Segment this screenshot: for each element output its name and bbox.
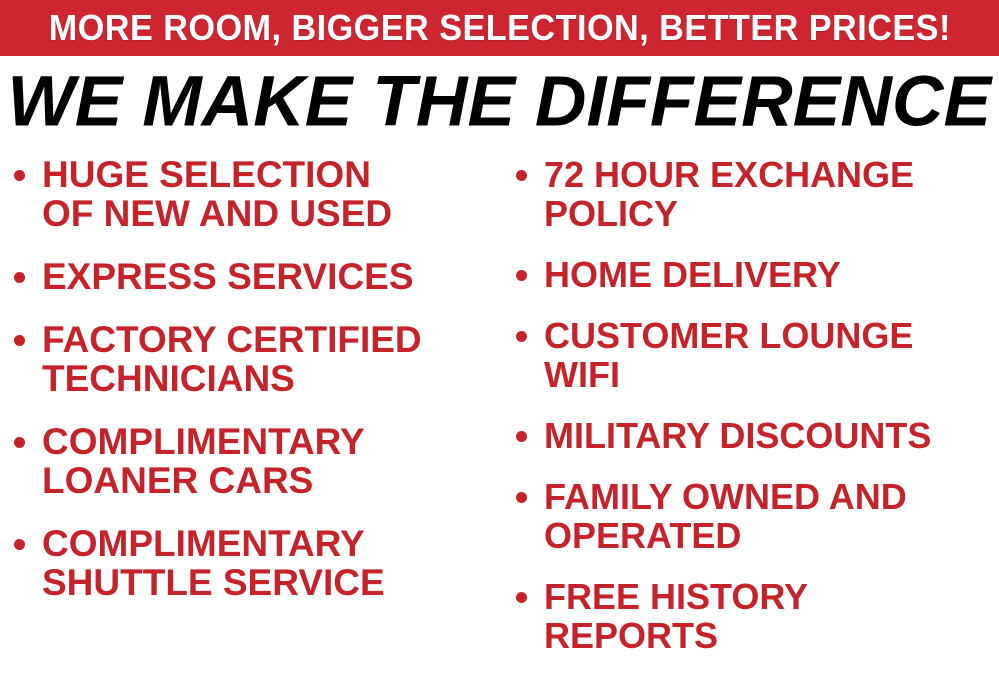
bullet-dot-icon: [516, 270, 527, 281]
benefit-label: CUSTOMER LOUNGE WIFI: [544, 316, 913, 394]
banner-headline-text: MORE ROOM, BIGGER SELECTION, BETTER PRIC…: [48, 10, 950, 46]
list-item: 72 HOUR EXCHANGE POLICY: [516, 155, 999, 233]
list-item: HOME DELIVERY: [516, 255, 999, 294]
benefit-label: FAMILY OWNED AND OPERATED: [544, 477, 907, 555]
benefit-list-right: 72 HOUR EXCHANGE POLICY HOME DELIVERY CU…: [516, 155, 999, 655]
list-item: EXPRESS SERVICES: [14, 257, 508, 296]
bullet-dot-icon: [516, 431, 527, 442]
top-banner: MORE ROOM, BIGGER SELECTION, BETTER PRIC…: [0, 0, 999, 56]
list-item: COMPLIMENTARY LOANER CARS: [14, 422, 508, 500]
benefits-columns: HUGE SELECTION OF NEW AND USED EXPRESS S…: [0, 155, 999, 692]
list-item: CUSTOMER LOUNGE WIFI: [516, 316, 999, 394]
benefits-column-right: 72 HOUR EXCHANGE POLICY HOME DELIVERY CU…: [508, 155, 999, 677]
benefit-label: FREE HISTORY REPORTS: [544, 577, 808, 655]
list-item: MILITARY DISCOUNTS: [516, 416, 999, 455]
bullet-dot-icon: [516, 331, 527, 342]
benefit-label: COMPLIMENTARY LOANER CARS: [42, 422, 365, 500]
bullet-dot-icon: [516, 492, 527, 503]
list-item: FAMILY OWNED AND OPERATED: [516, 477, 999, 555]
benefit-list-left: HUGE SELECTION OF NEW AND USED EXPRESS S…: [14, 155, 508, 602]
benefit-label: HUGE SELECTION OF NEW AND USED: [42, 155, 392, 233]
page-title: WE MAKE THE DIFFERENCE: [8, 65, 992, 136]
list-item: FREE HISTORY REPORTS: [516, 577, 999, 655]
promotional-poster: MORE ROOM, BIGGER SELECTION, BETTER PRIC…: [0, 0, 999, 692]
bullet-dot-icon: [14, 272, 25, 283]
bullet-dot-icon: [14, 539, 25, 550]
list-item: COMPLIMENTARY SHUTTLE SERVICE: [14, 524, 508, 602]
benefit-label: FACTORY CERTIFIED TECHNICIANS: [42, 320, 422, 398]
list-item: HUGE SELECTION OF NEW AND USED: [14, 155, 508, 233]
bullet-dot-icon: [14, 437, 25, 448]
list-item: FACTORY CERTIFIED TECHNICIANS: [14, 320, 508, 398]
benefits-column-left: HUGE SELECTION OF NEW AND USED EXPRESS S…: [0, 155, 508, 626]
benefit-label: MILITARY DISCOUNTS: [544, 416, 931, 455]
benefit-label: 72 HOUR EXCHANGE POLICY: [544, 155, 914, 233]
benefit-label: HOME DELIVERY: [544, 255, 841, 294]
bullet-dot-icon: [516, 170, 527, 181]
benefit-label: COMPLIMENTARY SHUTTLE SERVICE: [42, 524, 385, 602]
bullet-dot-icon: [14, 170, 25, 181]
benefit-label: EXPRESS SERVICES: [42, 257, 414, 296]
bullet-dot-icon: [516, 592, 527, 603]
headline-container: WE MAKE THE DIFFERENCE: [0, 62, 999, 140]
bullet-dot-icon: [14, 335, 25, 346]
